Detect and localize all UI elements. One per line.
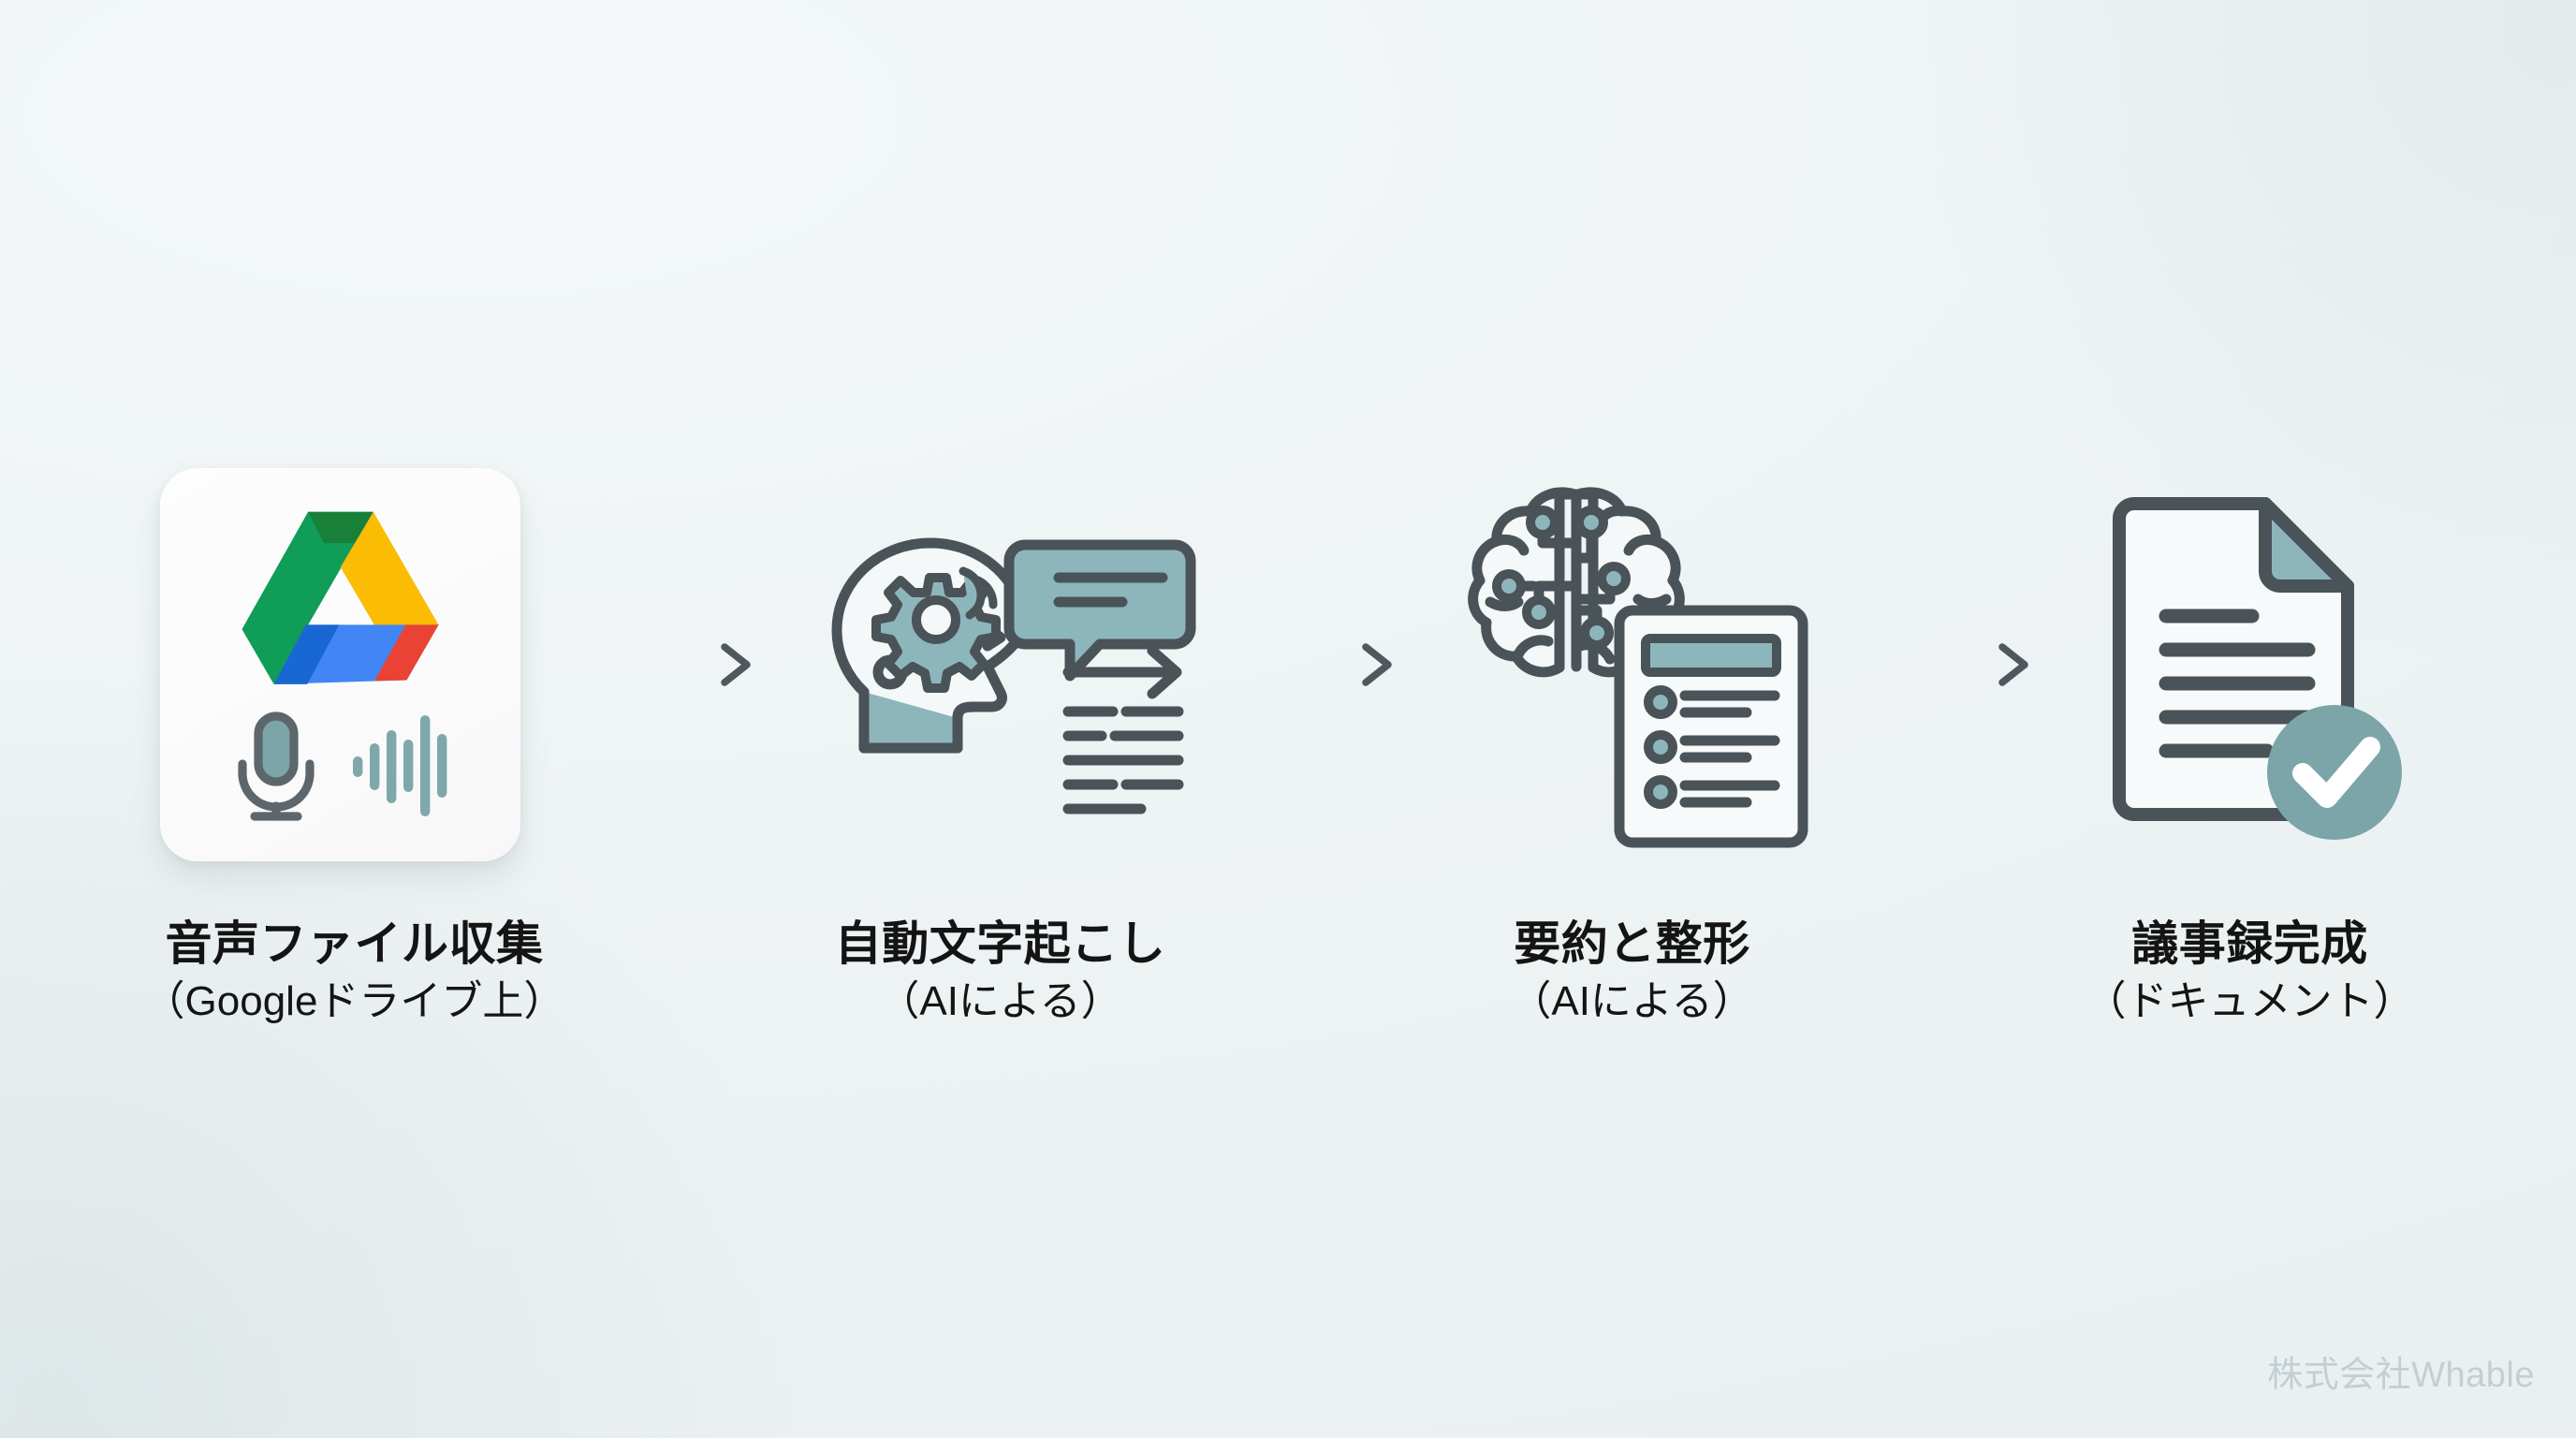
arrow-right-icon: [1227, 638, 1405, 691]
flow-step-auto-transcription[interactable]: [781, 440, 1221, 889]
audio-capture-icon: [227, 710, 454, 822]
brain-document-icon: [1436, 468, 1829, 861]
flow-label-minutes-complete: 議事録完成 （ドキュメント）: [1948, 917, 2552, 1027]
check-badge-icon: [2267, 705, 2402, 840]
flow-connector-1: [561, 637, 781, 693]
flow-labels-row: 音声ファイル収集 （Googleドライブ上） 自動文字起こし （AIによる） 要…: [0, 917, 2576, 1086]
transcript-lines-icon: [1068, 651, 1178, 809]
step-title: 要約と整形: [1316, 917, 1948, 970]
flow-label-audio-collection: 音声ファイル収集 （Googleドライブ上）: [24, 917, 684, 1027]
microphone-icon: [227, 710, 325, 822]
flow-step-minutes-complete[interactable]: [2054, 440, 2456, 889]
diagram-canvas: 音声ファイル収集 （Googleドライブ上） 自動文字起こし （AIによる） 要…: [0, 0, 2576, 1438]
flow-step-audio-collection[interactable]: [121, 440, 561, 889]
flow-row: [0, 440, 2576, 889]
arrow-right-icon: [1864, 638, 2042, 691]
step-subtitle: （AIによる）: [1316, 977, 1948, 1027]
flow-connector-2: [1221, 637, 1412, 693]
google-drive-audio-card-icon: [160, 468, 520, 861]
document-check-icon: [2100, 477, 2409, 852]
step-title: 議事録完成: [1948, 917, 2552, 970]
step-subtitle: （Googleドライブ上）: [24, 977, 684, 1027]
flow-label-auto-transcription: 自動文字起こし （AIによる）: [684, 917, 1316, 1027]
flow-step-summarize-format[interactable]: [1412, 440, 1852, 889]
company-watermark: 株式会社Whable: [2267, 1345, 2535, 1397]
ai-head-transcription-icon: [804, 477, 1197, 852]
arrow-right-icon: [577, 638, 764, 691]
step-title: 音声ファイル収集: [24, 917, 684, 970]
flow-connector-3: [1852, 637, 2054, 693]
step-title: 自動文字起こし: [684, 917, 1316, 970]
audio-waveform-icon: [353, 710, 454, 822]
step-subtitle: （AIによる）: [684, 977, 1316, 1027]
flow-label-summarize-format: 要約と整形 （AIによる）: [1316, 917, 1948, 1027]
google-drive-logo-icon: [240, 507, 441, 685]
step-subtitle: （ドキュメント）: [1948, 977, 2552, 1027]
structured-document-icon: [1619, 610, 1803, 843]
